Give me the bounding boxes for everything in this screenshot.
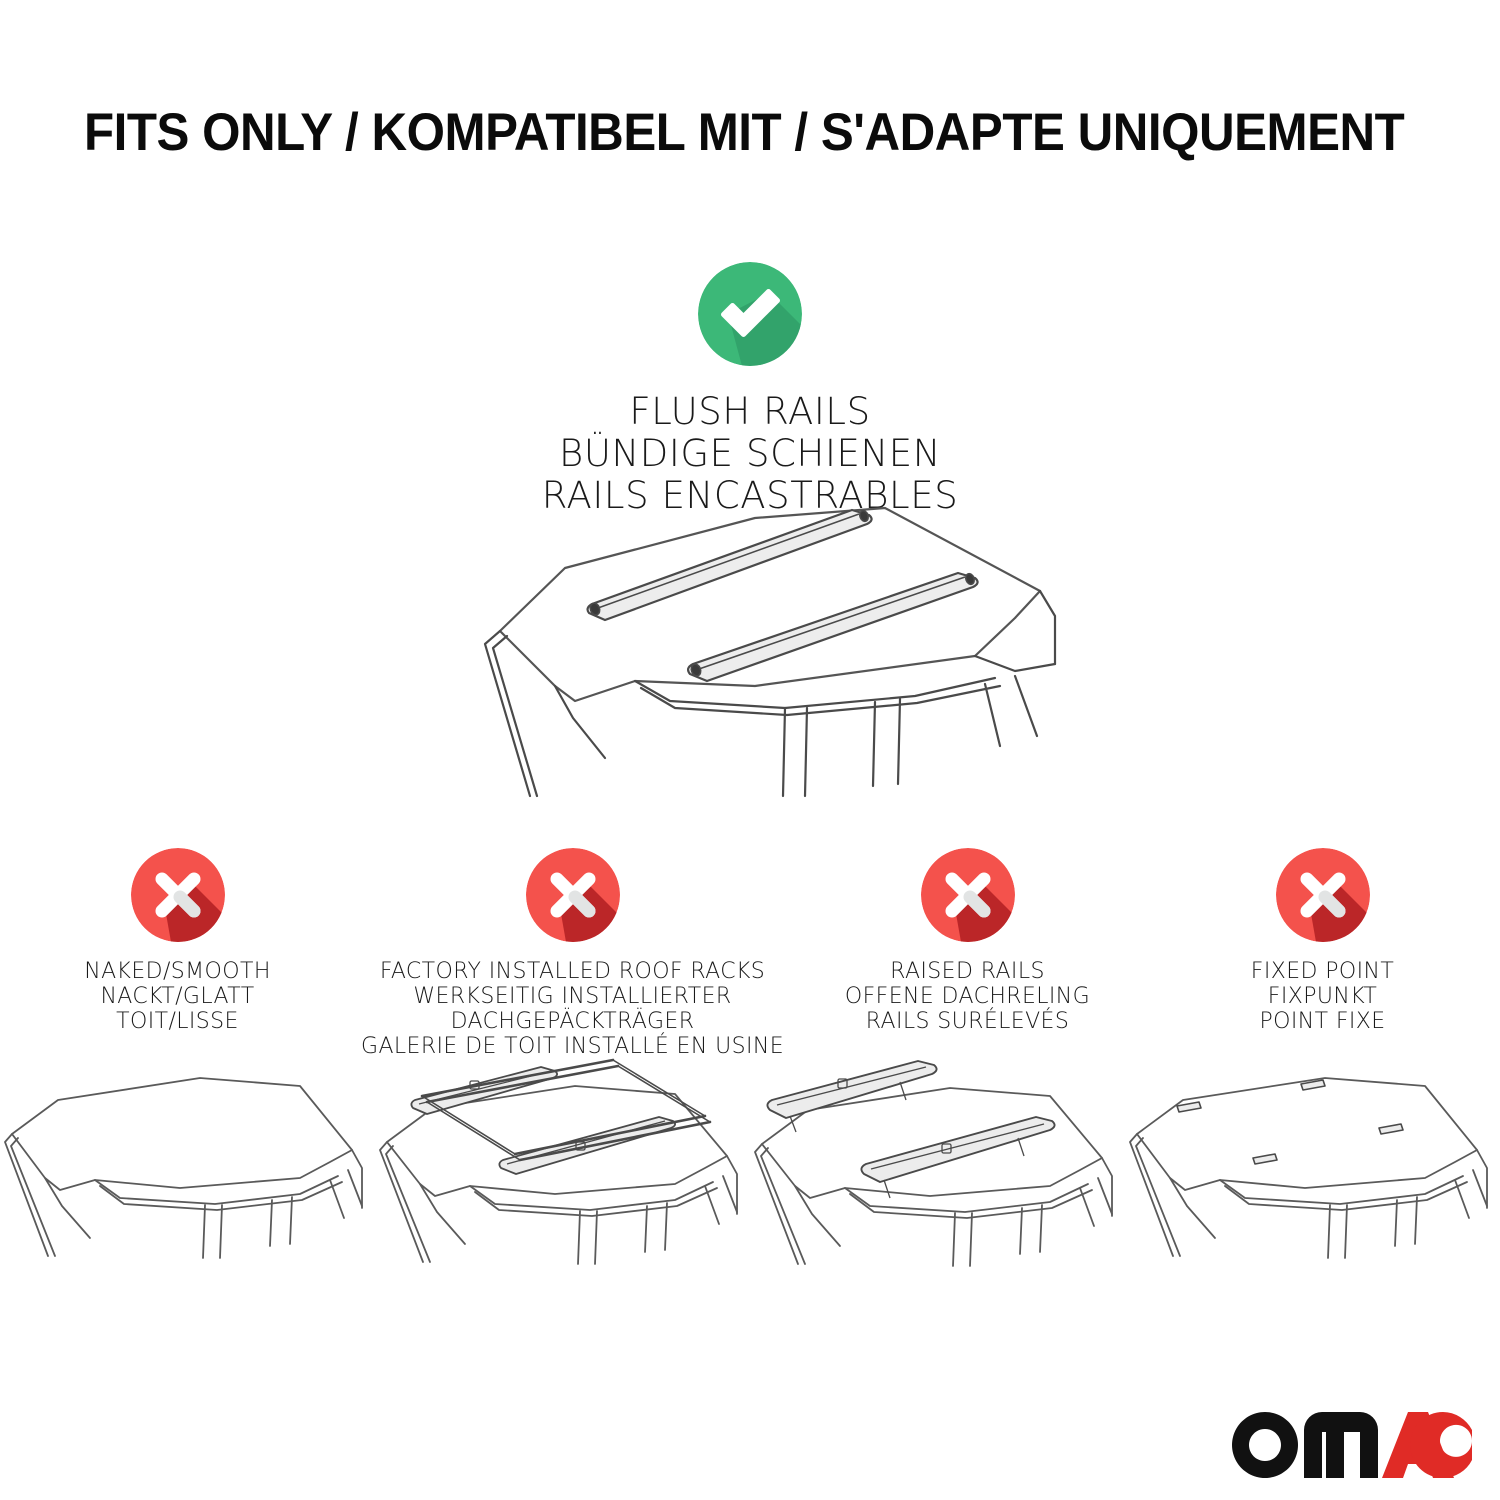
rejected-label-line: NAKED/SMOOTH (6, 959, 349, 984)
rejected-label-line: WERKSEITIG INSTALLIERTER (361, 984, 784, 1009)
rejected-label-line: FIXPUNKT (1151, 984, 1494, 1009)
rejected-label-line: TOIT/LISSE (6, 1009, 349, 1034)
approved-heading-line: BÜNDIGE SCHIENEN (0, 433, 1500, 475)
car-roof-flush-rails-illustration (455, 496, 1085, 801)
rejected-item-raised-rails: RAISED RAILS OFFENE DACHRELING RAILS SUR… (790, 848, 1145, 1034)
page-title: FITS ONLY / KOMPATIBEL MIT / S'ADAPTE UN… (84, 104, 1330, 162)
approved-heading-line: FLUSH RAILS (0, 391, 1500, 433)
rejected-label-line: RAILS SURÉLEVÉS (796, 1009, 1139, 1034)
car-roof-naked-illustration (0, 1058, 375, 1288)
rejected-label-line: NACKT/GLATT (6, 984, 349, 1009)
rejected-item-naked-smooth: NAKED/SMOOTH NACKT/GLATT TOIT/LISSE (0, 848, 355, 1034)
rejected-item-label: FACTORY INSTALLED ROOF RACKS WERKSEITIG … (361, 959, 784, 1059)
rejected-item-label: FIXED POINT FIXPUNKT POINT FIXE (1151, 959, 1494, 1034)
rejected-item-label: RAISED RAILS OFFENE DACHRELING RAILS SUR… (796, 959, 1139, 1034)
rejected-label-line: OFFENE DACHRELING (796, 984, 1139, 1009)
rejected-label-line: FACTORY INSTALLED ROOF RACKS (361, 959, 784, 984)
approved-section: FLUSH RAILS BÜNDIGE SCHIENEN RAILS ENCAS… (0, 262, 1500, 517)
red-cross-circle-icon (526, 848, 620, 942)
rejected-label-line: FIXED POINT (1151, 959, 1494, 984)
red-cross-circle-icon (131, 848, 225, 942)
rejected-item-factory-roof-racks: FACTORY INSTALLED ROOF RACKS WERKSEITIG … (355, 848, 790, 1059)
rejected-section: NAKED/SMOOTH NACKT/GLATT TOIT/LISSE FACT (0, 848, 1500, 1078)
rejected-illustrations-row (0, 1058, 1500, 1288)
car-roof-fixed-point-illustration (1125, 1058, 1500, 1288)
rejected-label-line: RAISED RAILS (796, 959, 1139, 984)
red-cross-circle-icon (921, 848, 1015, 942)
green-check-circle-icon (698, 262, 802, 366)
car-roof-raised-rails-illustration (750, 1058, 1125, 1288)
omac-logo (1232, 1408, 1472, 1482)
rejected-label-line: POINT FIXE (1151, 1009, 1494, 1034)
rejected-label-line: GALERIE DE TOIT INSTALLÉ EN USINE (361, 1034, 784, 1059)
rejected-item-label: NAKED/SMOOTH NACKT/GLATT TOIT/LISSE (6, 959, 349, 1034)
rejected-label-line: DACHGEPÄCKTRÄGER (361, 1009, 784, 1034)
rejected-item-fixed-point: FIXED POINT FIXPUNKT POINT FIXE (1145, 848, 1500, 1034)
car-roof-factory-racks-illustration (375, 1058, 750, 1288)
red-cross-circle-icon (1276, 848, 1370, 942)
